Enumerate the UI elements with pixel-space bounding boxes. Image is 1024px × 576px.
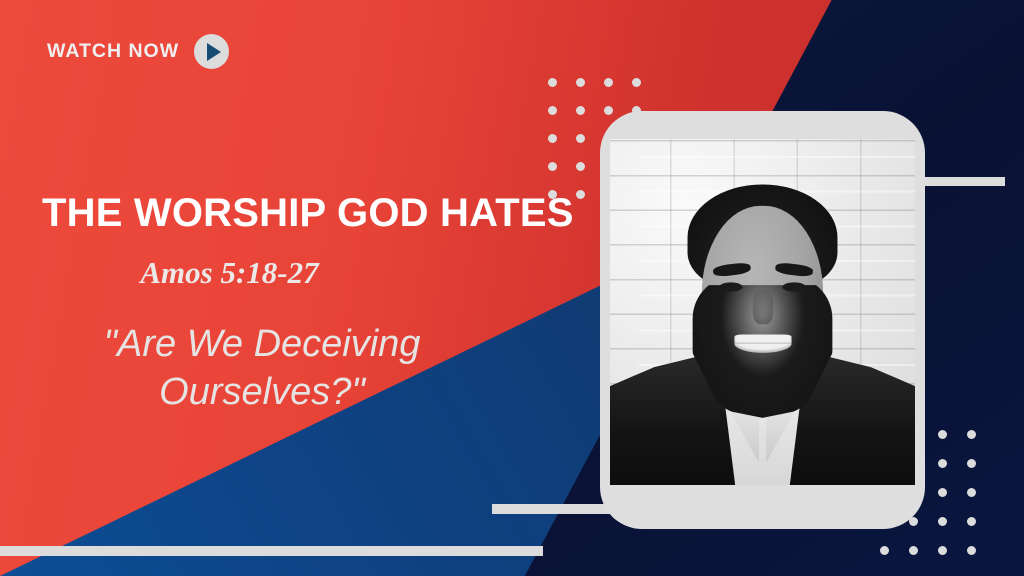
dot — [938, 488, 947, 497]
dot — [548, 78, 557, 87]
dot — [576, 106, 585, 115]
portrait-illustration — [610, 139, 915, 485]
play-icon[interactable] — [194, 34, 229, 69]
teeth-line — [734, 342, 792, 343]
speaker-portrait — [610, 139, 915, 485]
dot — [967, 546, 976, 555]
dot — [938, 430, 947, 439]
watch-now-label: WATCH NOW — [47, 40, 179, 63]
dot — [938, 517, 947, 526]
play-triangle-icon — [207, 43, 221, 61]
speaker-photo-card — [600, 111, 925, 529]
dot — [576, 78, 585, 87]
slide-canvas: WATCH NOW THE WORSHIP GOD HATES Amos 5:1… — [0, 0, 1024, 576]
page-title: THE WORSHIP GOD HATES — [42, 193, 587, 233]
dot — [967, 430, 976, 439]
bar-bottom-left — [0, 546, 543, 556]
dot — [880, 546, 889, 555]
dot — [967, 459, 976, 468]
watch-now-button[interactable]: WATCH NOW — [47, 34, 229, 69]
dot — [604, 106, 613, 115]
dot — [548, 134, 557, 143]
dot — [576, 134, 585, 143]
dot — [938, 546, 947, 555]
dot — [967, 517, 976, 526]
dot — [576, 162, 585, 171]
dot — [909, 546, 918, 555]
sermon-subtitle: "Are We Deceiving Ourselves?" — [42, 321, 587, 416]
dot — [548, 162, 557, 171]
dot — [967, 488, 976, 497]
sermon-text-block: THE WORSHIP GOD HATES Amos 5:18-27 "Are … — [42, 193, 587, 416]
dot — [548, 106, 557, 115]
scripture-reference: Amos 5:18-27 — [42, 255, 587, 291]
dot — [632, 78, 641, 87]
dot — [604, 78, 613, 87]
dot — [938, 459, 947, 468]
